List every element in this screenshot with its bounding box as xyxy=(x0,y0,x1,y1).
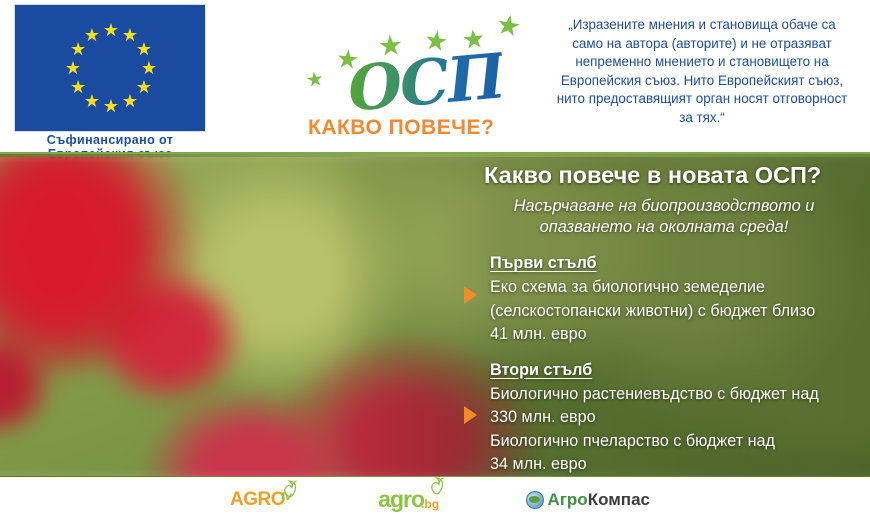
agrokompas-logo[interactable]: Агро Компас xyxy=(526,490,650,510)
agro-tv-logo[interactable]: AGRO tv xyxy=(230,489,292,511)
agrokompas-logo-word: Агро xyxy=(548,490,588,510)
agro-bg-logo[interactable]: agro .bg xyxy=(378,486,439,513)
osp-logo: ★★★★★★ ОСП КАКВО ПОВЕЧЕ? xyxy=(300,8,530,144)
photo-top-edge xyxy=(0,154,870,157)
osp-star-icon: ★ xyxy=(305,69,326,91)
osp-tagline: КАКВО ПОВЕЧЕ? xyxy=(308,116,494,140)
pillar-text-line: (селскостопански животни) с бюджет близо xyxy=(490,300,862,324)
agrokompas-logo-suffix: Компас xyxy=(588,490,650,510)
triangle-bullet-icon xyxy=(464,406,477,424)
footer-bar: AGRO tv agro .bg Агро Компас xyxy=(0,477,870,522)
pillar-text-line: 34 млн. евро xyxy=(490,453,862,477)
apple-leaf-icon xyxy=(282,480,298,498)
pillar-heading: Втори стълб xyxy=(490,361,862,380)
pillar-text-line: 330 млн. евро xyxy=(490,406,862,430)
infographic-poster: ★★★★★★★★★★★★ Съфинансирано от Европейски… xyxy=(0,0,870,522)
eu-disclaimer-text: „Изразените мнения и становища обаче са … xyxy=(552,16,852,128)
agro-tv-logo-word: AGRO xyxy=(230,489,285,511)
partner-logos: AGRO tv agro .bg Агро Компас xyxy=(230,477,650,522)
agro-bg-logo-suffix: .bg xyxy=(421,497,439,511)
eu-caption-line-1: Съфинансирано от xyxy=(14,134,206,148)
pillars-list: Първи стълбЕко схема за биологично земед… xyxy=(462,254,862,477)
triangle-bullet-icon xyxy=(464,286,477,304)
pillar-text-line: Еко схема за биологично земеделие xyxy=(490,276,862,300)
pillar-block-2: Втори стълбБиологично растениевъдство с … xyxy=(462,361,862,477)
pillar-text-line: Биологично растениевъдство с бюджет над xyxy=(490,383,862,407)
eu-emblem-block: ★★★★★★★★★★★★ Съфинансирано от Европейски… xyxy=(14,4,224,161)
page-title: Какво повече в новата ОСП? xyxy=(484,160,862,190)
osp-wordmark: ОСП xyxy=(346,45,507,120)
globe-icon xyxy=(526,491,544,509)
main-content-block: Какво повече в новата ОСП? Насърчаване н… xyxy=(462,160,862,491)
apple-leaf-icon xyxy=(429,477,445,495)
pillar-block-1: Първи стълбЕко схема за биологично земед… xyxy=(462,254,862,347)
pillar-text-line: 41 млн. евро xyxy=(490,323,862,347)
header-bar: ★★★★★★★★★★★★ Съфинансирано от Европейски… xyxy=(0,0,870,152)
pillar-text-line: Биологично пчеларство с бюджет над xyxy=(490,430,862,454)
page-subtitle: Насърчаване на биопроизводството и опазв… xyxy=(484,196,844,238)
osp-star-icon: ★ xyxy=(494,10,524,42)
agro-bg-logo-word: agro xyxy=(378,486,424,513)
eu-flag-icon: ★★★★★★★★★★★★ xyxy=(14,4,206,132)
pillar-heading: Първи стълб xyxy=(490,254,862,273)
